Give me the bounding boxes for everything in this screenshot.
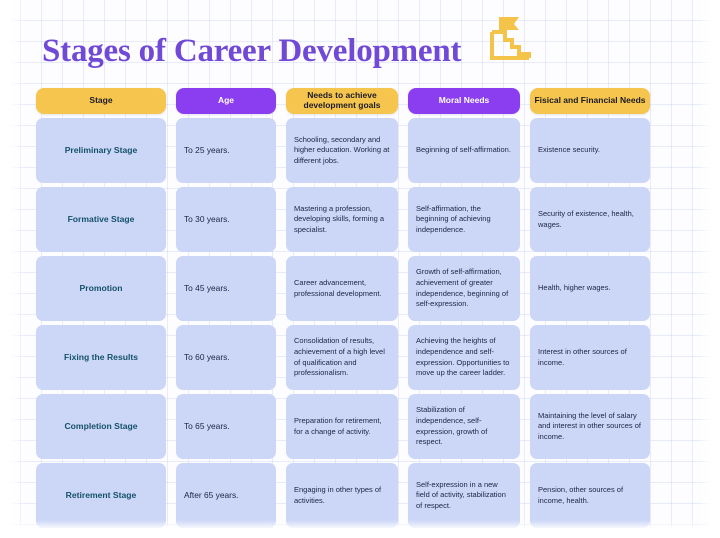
cell-text: Schooling, secondary and higher educatio… [294, 135, 390, 167]
table-cell: Interest in other sources of income. [530, 325, 650, 390]
page-title: Stages of Career Development [42, 34, 461, 69]
cell-text: Preparation for retirement, for a change… [294, 416, 390, 437]
column-header-fisical-financial-needs[interactable]: Fisical and Financial Needs [530, 88, 650, 114]
infographic-canvas: Stages of Career Development Stage Preli… [0, 0, 720, 538]
cell-text: To 65 years. [184, 421, 268, 433]
column-cells-moral-needs: Beginning of self-affirmation. Self-affi… [408, 118, 520, 528]
table-cell: Fixing the Results [36, 325, 166, 390]
table-cell: Pension, other sources of income, health… [530, 463, 650, 528]
table-cell: Promotion [36, 256, 166, 321]
column-fisical-financial-needs: Fisical and Financial Needs Existence se… [530, 88, 650, 528]
column-moral-needs: Moral Needs Beginning of self-affirmatio… [408, 88, 520, 528]
staircase-flag-icon [479, 13, 535, 74]
cell-text: Pension, other sources of income, health… [538, 485, 642, 506]
table-cell: Retirement Stage [36, 463, 166, 528]
table-cell: To 30 years. [176, 187, 276, 252]
column-age: Age To 25 years. To 30 years. To 45 year… [176, 88, 276, 528]
cell-text: Interest in other sources of income. [538, 347, 642, 368]
cell-text: Retirement Stage [44, 490, 158, 502]
cell-text: Mastering a profession, developing skill… [294, 204, 390, 236]
cell-text: Achieving the heights of independence an… [416, 336, 512, 379]
cell-text: Formative Stage [44, 214, 158, 226]
table-cell: To 25 years. [176, 118, 276, 183]
table-cell: Mastering a profession, developing skill… [286, 187, 398, 252]
cell-text: Career advancement, professional develop… [294, 278, 390, 299]
table-cell: Career advancement, professional develop… [286, 256, 398, 321]
table-cell: After 65 years. [176, 463, 276, 528]
table-cell: To 45 years. [176, 256, 276, 321]
cell-text: Engaging in other types of activities. [294, 485, 390, 506]
cell-text: Growth of self-affirmation, achievement … [416, 267, 512, 310]
table-cell: Engaging in other types of activities. [286, 463, 398, 528]
table-cell: Consolidation of results, achievement of… [286, 325, 398, 390]
table-cell: Health, higher wages. [530, 256, 650, 321]
table-cell: Security of existence, health, wages. [530, 187, 650, 252]
cell-text: Beginning of self-affirmation. [416, 145, 512, 156]
cell-text: Existence security. [538, 145, 642, 156]
table-cell: Maintaining the level of salary and inte… [530, 394, 650, 459]
column-development-goals: Needs to achieve development goals Schoo… [286, 88, 398, 528]
column-stage: Stage Preliminary Stage Formative Stage … [36, 88, 166, 528]
paper-edge-left [0, 0, 26, 538]
cell-text: Maintaining the level of salary and inte… [538, 411, 642, 443]
table-cell: Growth of self-affirmation, achievement … [408, 256, 520, 321]
cell-text: Fixing the Results [44, 352, 158, 364]
cell-text: Completion Stage [44, 421, 158, 433]
table-cell: Stabilization of independence, self-expr… [408, 394, 520, 459]
cell-text: Self-affirmation, the beginning of achie… [416, 204, 512, 236]
table-cell: Self-affirmation, the beginning of achie… [408, 187, 520, 252]
table-cell: Achieving the heights of independence an… [408, 325, 520, 390]
table-cell: To 60 years. [176, 325, 276, 390]
table-cell: To 65 years. [176, 394, 276, 459]
career-stages-table: Stage Preliminary Stage Formative Stage … [36, 88, 696, 528]
cell-text: Promotion [44, 283, 158, 295]
table-cell: Preparation for retirement, for a change… [286, 394, 398, 459]
column-cells-fisical-financial-needs: Existence security. Security of existenc… [530, 118, 650, 528]
paper-edge-right [698, 0, 720, 538]
table-cell: Schooling, secondary and higher educatio… [286, 118, 398, 183]
cell-text: To 45 years. [184, 283, 268, 295]
cell-text: To 25 years. [184, 145, 268, 157]
column-cells-age: To 25 years. To 30 years. To 45 years. T… [176, 118, 276, 528]
cell-text: Security of existence, health, wages. [538, 209, 642, 230]
table-cell: Existence security. [530, 118, 650, 183]
cell-text: To 30 years. [184, 214, 268, 226]
column-header-development-goals[interactable]: Needs to achieve development goals [286, 88, 398, 114]
title-row: Stages of Career Development [42, 20, 682, 82]
cell-text: Consolidation of results, achievement of… [294, 336, 390, 379]
cell-text: Health, higher wages. [538, 283, 642, 294]
table-cell: Beginning of self-affirmation. [408, 118, 520, 183]
column-header-moral-needs[interactable]: Moral Needs [408, 88, 520, 114]
column-cells-stage: Preliminary Stage Formative Stage Promot… [36, 118, 166, 528]
cell-text: Stabilization of independence, self-expr… [416, 405, 512, 448]
table-cell: Preliminary Stage [36, 118, 166, 183]
cell-text: Preliminary Stage [44, 145, 158, 157]
column-header-age[interactable]: Age [176, 88, 276, 114]
cell-text: Self-expression in a new field of activi… [416, 480, 512, 512]
table-cell: Self-expression in a new field of activi… [408, 463, 520, 528]
column-cells-development-goals: Schooling, secondary and higher educatio… [286, 118, 398, 528]
cell-text: To 60 years. [184, 352, 268, 364]
table-cell: Formative Stage [36, 187, 166, 252]
table-cell: Completion Stage [36, 394, 166, 459]
cell-text: After 65 years. [184, 490, 268, 502]
column-header-stage[interactable]: Stage [36, 88, 166, 114]
